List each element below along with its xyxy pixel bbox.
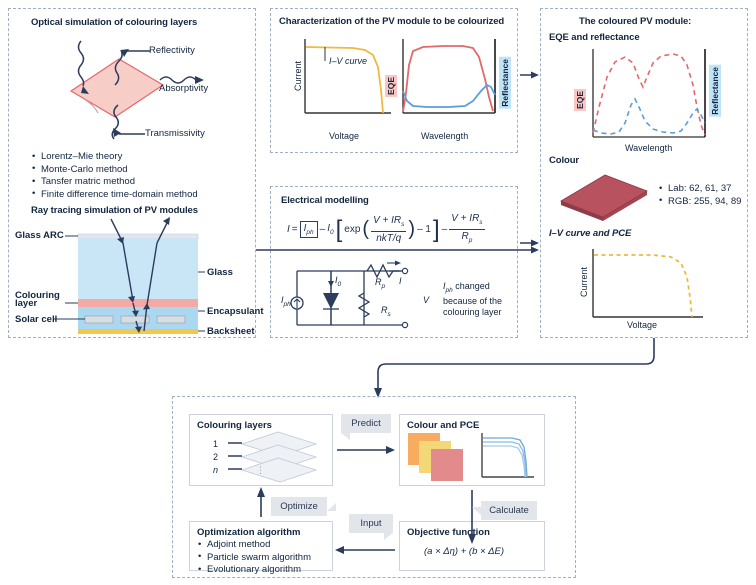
coloured-chart-x-label: Wavelength bbox=[625, 143, 672, 153]
diode-equation: I = Iph – I0 [ exp ( V + IRs nkT/q ) – 1… bbox=[287, 213, 485, 246]
note-symbol-sub: ph bbox=[446, 287, 453, 294]
iph-sub: ph bbox=[284, 301, 291, 308]
eq-equals: = bbox=[292, 224, 298, 235]
eq-paren-close: ) bbox=[408, 218, 415, 241]
panel-characterization: Characterization of the PV module to be … bbox=[270, 8, 518, 153]
label-encapsulant: Encapsulant bbox=[207, 306, 264, 317]
callout-predict: Predict bbox=[341, 414, 391, 433]
circuit-label-rp: Rp bbox=[375, 277, 385, 290]
coloured-iv-x-label: Voltage bbox=[627, 320, 657, 330]
panel-optical-simulation: Optical simulation of colouring layers R… bbox=[8, 8, 256, 338]
label-backsheet: Backsheet bbox=[207, 326, 255, 337]
note-line-1: changed bbox=[455, 281, 490, 291]
raytracing-title: Ray tracing simulation of PV modules bbox=[31, 205, 198, 216]
coloured-eqe-label: EQE bbox=[574, 89, 586, 111]
iv-pce-heading: I–V curve and PCE bbox=[549, 228, 631, 239]
chart-reference-iv-curve bbox=[293, 35, 393, 127]
colour-values-list: Lab: 62, 61, 37 RGB: 255, 94, 89 bbox=[659, 183, 741, 208]
objective-title: Objective function bbox=[407, 527, 490, 538]
eq-frac1-num: V + IR bbox=[373, 215, 401, 226]
box-optimization-algorithm: Optimization algorithm Adjoint method Pa… bbox=[189, 521, 333, 571]
callout-input: Input bbox=[349, 514, 393, 533]
eq-bracket-close: ] bbox=[433, 216, 440, 244]
label-glass-arc: Glass ARC bbox=[15, 230, 64, 241]
panel-coloured-pv-module: The coloured PV module: EQE and reflecta… bbox=[540, 8, 748, 338]
label-transmissivity: Transmissivity bbox=[145, 128, 205, 139]
colour-heading: Colour bbox=[549, 155, 579, 166]
method-item: Monte-Carlo method bbox=[32, 164, 198, 177]
optical-scattering-diagram bbox=[23, 33, 249, 145]
box-colouring-layers: Colouring layers 1 2 n ⋮ bbox=[189, 414, 333, 486]
eq-bracket-open: [ bbox=[336, 216, 343, 244]
note-line-2: because of the bbox=[443, 296, 502, 307]
rp-sub: p bbox=[382, 283, 386, 290]
colour-pce-title: Colour and PCE bbox=[407, 420, 479, 431]
optimization-method-item: Particle swarm algorithm bbox=[198, 552, 311, 565]
callout-calculate: Calculate bbox=[481, 501, 537, 520]
note-line-3: colouring layer bbox=[443, 307, 502, 318]
callout-optimize: Optimize bbox=[271, 497, 327, 516]
chart1-y-axis-label: Current bbox=[293, 61, 303, 91]
optical-methods-list: Lorentz–Mie theory Monte-Carlo method Ta… bbox=[32, 151, 198, 201]
eq-minus-2: – bbox=[442, 224, 448, 235]
layer-ellipsis: ⋮ bbox=[256, 465, 265, 476]
chart-coloured-iv-curve bbox=[583, 245, 715, 331]
optimization-method-item: Evolutionary algorithm bbox=[198, 564, 311, 577]
circuit-label-i: I bbox=[399, 276, 402, 286]
eq-paren-open: ( bbox=[362, 218, 369, 241]
eq-i0: I0 bbox=[327, 223, 333, 236]
method-item: Tansfer matric method bbox=[32, 176, 198, 189]
label-absorptivity: Absorptivity bbox=[159, 83, 208, 94]
eq-frac2-num: V + IR bbox=[451, 213, 479, 224]
chart2-x-axis-label: Wavelength bbox=[421, 131, 468, 141]
colouring-layers-title: Colouring layers bbox=[197, 420, 272, 431]
eq-frac2-den-sub: p bbox=[469, 237, 473, 244]
label-layer: layer bbox=[15, 298, 37, 309]
method-item: Lorentz–Mie theory bbox=[32, 151, 198, 164]
electrical-title: Electrical modelling bbox=[281, 195, 369, 206]
eqe-reflectance-heading: EQE and reflectance bbox=[549, 32, 640, 43]
label-solar-cell: Solar cell bbox=[15, 314, 57, 325]
circuit-label-rs: Rs bbox=[381, 305, 391, 318]
label-reflectivity: Reflectivity bbox=[149, 45, 195, 56]
characterization-title: Characterization of the PV module to be … bbox=[279, 16, 504, 27]
eq-minus-one: – 1 bbox=[417, 224, 431, 235]
chart1-x-axis-label: Voltage bbox=[329, 131, 359, 141]
chart2-reflectance-label: Reflectance bbox=[499, 57, 511, 109]
layer-label-n: n bbox=[213, 465, 218, 475]
method-item: Finite difference time-domain method bbox=[32, 189, 198, 202]
eq-boxed-iph: Iph bbox=[300, 221, 318, 238]
eq-lhs: I bbox=[287, 224, 290, 235]
equivalent-circuit-diagram bbox=[279, 253, 449, 335]
coloured-iv-y-label: Current bbox=[579, 267, 589, 297]
eq-fraction-1: V + IRs nkT/q bbox=[371, 215, 406, 244]
label-glass: Glass bbox=[207, 267, 233, 278]
colour-value-rgb: RGB: 255, 94, 89 bbox=[659, 196, 741, 209]
eq-frac2-den: R bbox=[461, 231, 468, 242]
optimization-title: Optimization algorithm bbox=[197, 527, 300, 538]
box-objective-function: Objective function (a × Δη) + (b × ΔE) bbox=[399, 521, 545, 571]
coloured-reflectance-label: Reflectance bbox=[709, 65, 721, 117]
coloured-panel-title: The coloured PV module: bbox=[579, 16, 691, 27]
i0-sub: 0 bbox=[338, 281, 342, 288]
box-colour-and-pce: Colour and PCE bbox=[399, 414, 545, 486]
panel-optimization-loop: Colouring layers 1 2 n ⋮ Colour and PCE bbox=[172, 396, 576, 578]
iph-note: Iph changed because of the colouring lay… bbox=[443, 281, 502, 318]
chart-predicted-iv-curves bbox=[476, 431, 540, 483]
colour-swatch-module bbox=[553, 169, 653, 225]
chart-coloured-eqe-reflectance bbox=[587, 47, 715, 149]
iv-curve-annotation: I–V curve bbox=[329, 56, 367, 66]
eq-frac1-den: nkT/q bbox=[371, 232, 406, 244]
rs-sub: s bbox=[388, 311, 391, 318]
eq-iph-sub: ph bbox=[306, 229, 313, 236]
circuit-label-iph: Iph bbox=[281, 295, 291, 308]
objective-formula: (a × Δη) + (b × ΔE) bbox=[424, 546, 504, 557]
optimization-method-item: Adjoint method bbox=[198, 539, 311, 552]
eq-i0-sub: 0 bbox=[330, 229, 334, 236]
eq-frac2-num-sub: s bbox=[479, 219, 482, 226]
eq-fraction-2: V + IRs Rp bbox=[449, 213, 484, 246]
chart-reference-eqe-reflectance bbox=[397, 35, 505, 127]
eq-minus-1: – bbox=[320, 224, 326, 235]
optical-panel-title: Optical simulation of colouring layers bbox=[31, 17, 197, 28]
circuit-label-v: V bbox=[423, 295, 429, 305]
layer-stack-icon bbox=[220, 431, 330, 485]
optimization-methods-list: Adjoint method Particle swarm algorithm … bbox=[198, 539, 311, 577]
circuit-label-i0: I0 bbox=[335, 275, 341, 288]
chart2-eqe-label: EQE bbox=[385, 75, 397, 97]
iv-pce-heading-text: I–V curve and PCE bbox=[549, 228, 631, 239]
swatch-rose bbox=[431, 449, 463, 481]
eq-frac1-num-sub: s bbox=[401, 221, 404, 228]
panel-electrical-modelling: Electrical modelling I = Iph – I0 [ exp … bbox=[270, 186, 518, 338]
layer-label-1: 1 bbox=[213, 439, 218, 449]
eq-exp: exp bbox=[344, 224, 360, 235]
layer-label-2: 2 bbox=[213, 452, 218, 462]
colour-value-lab: Lab: 62, 61, 37 bbox=[659, 183, 741, 196]
